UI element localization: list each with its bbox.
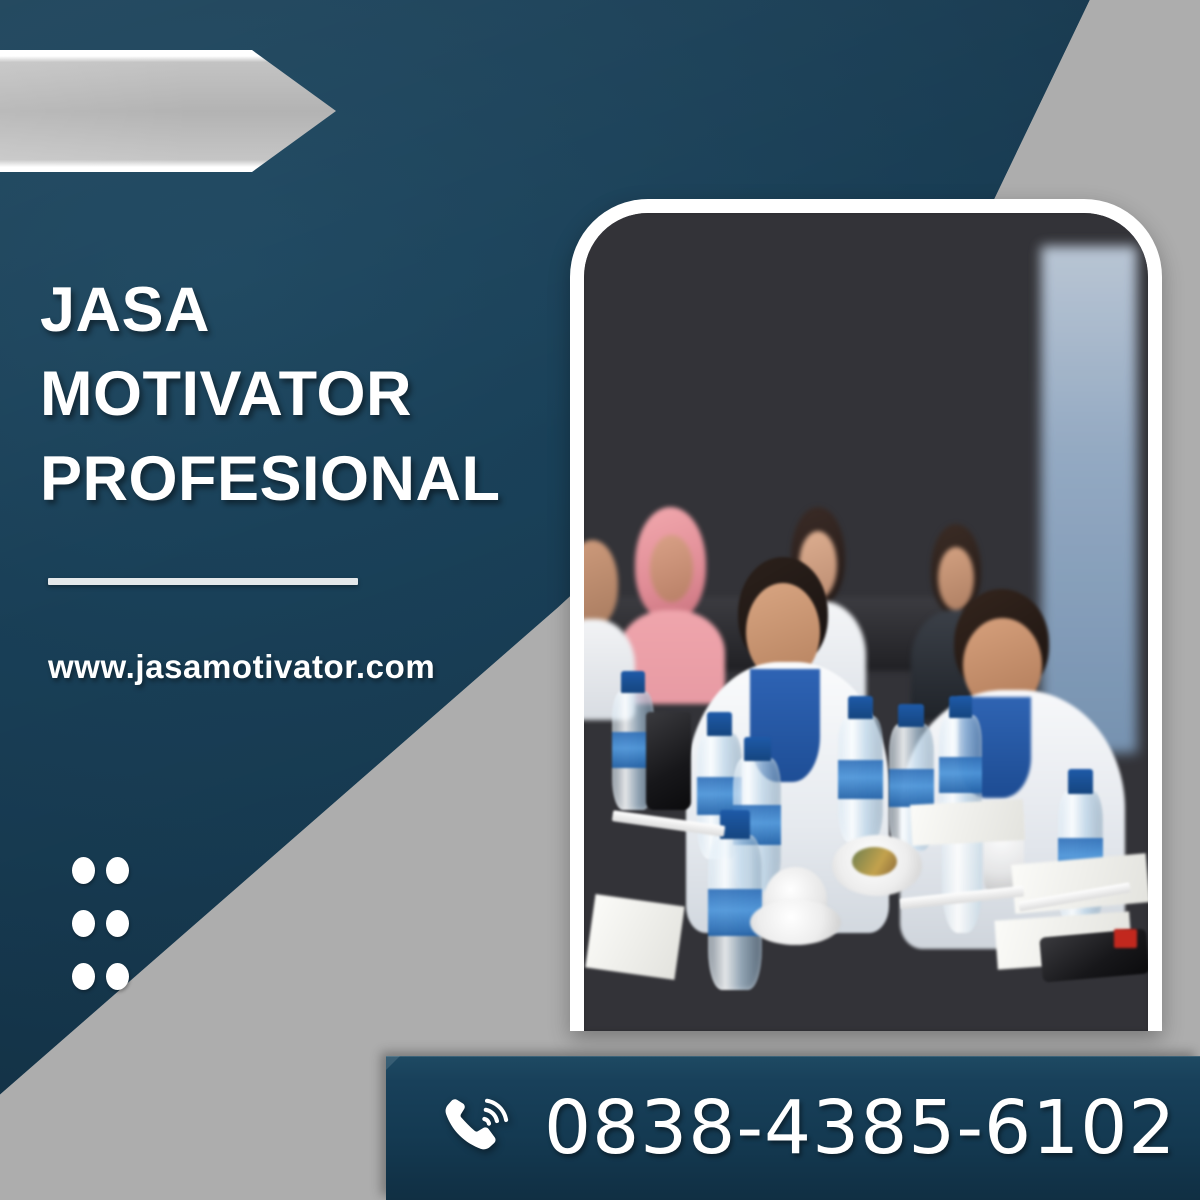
phone-number: 0838-4385-6102 [544, 1085, 1176, 1171]
headline-line-3: PROFESIONAL [40, 437, 570, 521]
headline-line-1: JASA [40, 268, 570, 352]
dot [106, 857, 129, 884]
seminar-photo [584, 213, 1148, 1031]
dot [106, 963, 129, 990]
dot [72, 910, 95, 937]
photo-food [852, 847, 897, 876]
dot-grid-decoration [72, 857, 140, 1016]
dot [72, 963, 95, 990]
contact-bar[interactable]: 0838-4385-6102 [386, 1056, 1200, 1200]
dot [106, 910, 129, 937]
photo-smartphone-accent [1114, 929, 1137, 949]
photo-paper [585, 894, 685, 979]
photo-saucer [750, 900, 840, 945]
photo-water-bottle [708, 810, 762, 990]
photo-frame [570, 199, 1162, 1031]
website-url[interactable]: www.jasamotivator.com [48, 648, 435, 686]
page-title: JASA MOTIVATOR PROFESIONAL [40, 268, 570, 521]
phone-ringing-icon [442, 1092, 514, 1164]
headline-line-2: MOTIVATOR [40, 352, 570, 436]
title-divider [48, 578, 358, 585]
photo-coffee-flask [646, 712, 691, 810]
photo-paper [910, 799, 1025, 846]
poster-canvas: JASA MOTIVATOR PROFESIONAL www.jasamotiv… [0, 0, 1200, 1200]
dot [72, 857, 95, 884]
photo-water-bottle [838, 696, 883, 843]
